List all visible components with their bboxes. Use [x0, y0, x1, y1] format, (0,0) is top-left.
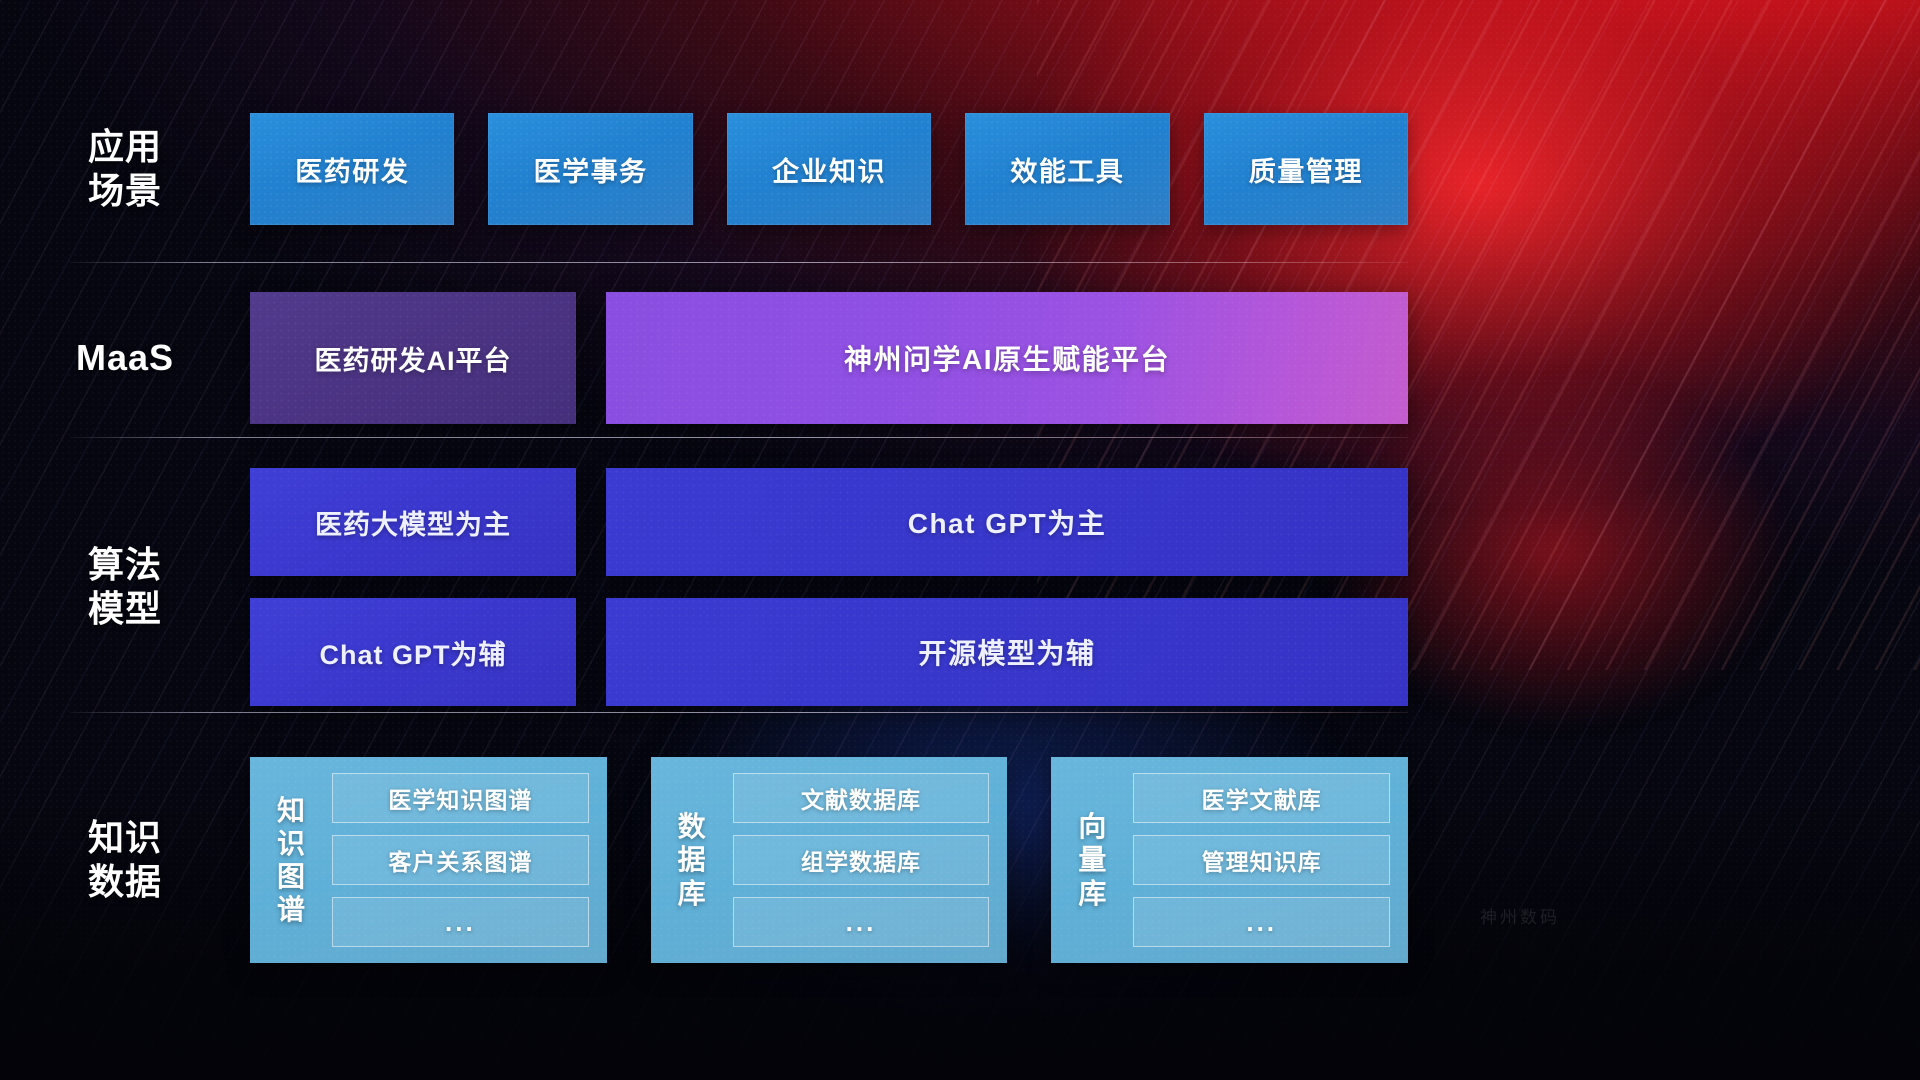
knowledge-item-more[interactable]: ... — [733, 897, 990, 947]
algo-card-label: 医药大模型为主 — [315, 503, 511, 542]
algo-card-chatgpt-primary[interactable]: Chat GPT为主 — [606, 468, 1408, 576]
knowledge-group-vertical-label: 知 识 图 谱 — [268, 773, 314, 947]
row-label-line-2: 模型 — [0, 587, 250, 631]
knowledge-item-label: 组学数据库 — [801, 843, 921, 877]
knowledge-item-literature-database[interactable]: 文献数据库 — [733, 773, 990, 823]
knowledge-group-vertical-label: 向 量 库 — [1069, 773, 1115, 947]
row-label-line-1: MaaS — [0, 336, 250, 380]
knowledge-item-label: 文献数据库 — [801, 781, 921, 815]
vertical-label-char: 据 — [678, 843, 706, 876]
vertical-label-char: 谱 — [277, 893, 305, 926]
app-card-drug-rd[interactable]: 医药研发 — [250, 113, 454, 225]
maas-card-label: 神州问学AI原生赋能平台 — [844, 338, 1170, 378]
knowledge-item-label: 医学知识图谱 — [388, 781, 532, 815]
app-card-label: 质量管理 — [1249, 150, 1363, 189]
knowledge-item-list: 文献数据库 组学数据库 ... — [733, 773, 990, 947]
knowledge-item-label: 客户关系图谱 — [388, 843, 532, 877]
row-application-scenarios: 应用 场景 医药研发 医学事务 企业知识 效能工具 — [0, 100, 1920, 238]
algo-card-pharma-llm-primary[interactable]: 医药大模型为主 — [250, 468, 576, 576]
app-card-label: 企业知识 — [772, 150, 886, 189]
vertical-label-char: 量 — [1078, 843, 1106, 876]
row-label-line-1: 应用 — [0, 125, 250, 169]
knowledge-item-list: 医学知识图谱 客户关系图谱 ... — [332, 773, 589, 947]
knowledge-item-more[interactable]: ... — [1133, 897, 1390, 947]
algorithm-row-secondary: Chat GPT为辅 开源模型为辅 — [250, 598, 1408, 706]
row-label-maas: MaaS — [0, 336, 250, 380]
algo-card-label: Chat GPT为辅 — [319, 633, 506, 672]
app-card-label: 医学事务 — [534, 150, 648, 189]
row-maas: MaaS 医药研发AI平台 神州问学AI原生赋能平台 — [0, 288, 1920, 428]
row-label-knowledge-data: 知识 数据 — [0, 816, 250, 904]
knowledge-group-vertical-label: 数 据 库 — [669, 773, 715, 947]
app-card-efficiency-tools[interactable]: 效能工具 — [965, 113, 1169, 225]
row-label-line-1: 知识 — [0, 816, 250, 860]
row-label-algorithm-models: 算法 模型 — [0, 543, 250, 631]
maas-card-label: 医药研发AI平台 — [315, 339, 512, 378]
knowledge-group-knowledge-graph[interactable]: 知 识 图 谱 医学知识图谱 客户关系图谱 — [250, 757, 607, 963]
knowledge-item-medical-knowledge-graph[interactable]: 医学知识图谱 — [332, 773, 589, 823]
knowledge-item-customer-relation-graph[interactable]: 客户关系图谱 — [332, 835, 589, 885]
divider-1 — [70, 262, 1408, 263]
knowledge-group-database[interactable]: 数 据 库 文献数据库 组学数据库 ... — [651, 757, 1008, 963]
vertical-label-char: 向 — [1078, 810, 1106, 843]
knowledge-item-medical-literature-store[interactable]: 医学文献库 — [1133, 773, 1390, 823]
vertical-label-char: 识 — [277, 827, 305, 860]
app-card-enterprise-knowledge[interactable]: 企业知识 — [727, 113, 931, 225]
knowledge-item-label: ... — [846, 907, 877, 938]
divider-3 — [70, 712, 1408, 713]
algorithm-row-primary: 医药大模型为主 Chat GPT为主 — [250, 468, 1408, 576]
row-body-algorithm-models: 医药大模型为主 Chat GPT为主 Chat GPT为辅 开源模型为辅 — [250, 468, 1920, 706]
maas-card-drug-rd-ai-platform[interactable]: 医药研发AI平台 — [250, 292, 576, 424]
vertical-label-char: 图 — [277, 860, 305, 893]
maas-card-shenzhou-wenxue-platform[interactable]: 神州问学AI原生赋能平台 — [606, 292, 1408, 424]
algo-card-opensource-secondary[interactable]: 开源模型为辅 — [606, 598, 1408, 706]
knowledge-item-label: ... — [445, 907, 476, 938]
knowledge-item-label: 管理知识库 — [1202, 843, 1322, 877]
knowledge-item-label: ... — [1246, 907, 1277, 938]
knowledge-item-label: 医学文献库 — [1202, 781, 1322, 815]
knowledge-item-management-knowledge-store[interactable]: 管理知识库 — [1133, 835, 1390, 885]
row-label-line-2: 数据 — [0, 860, 250, 904]
app-card-quality-management[interactable]: 质量管理 — [1204, 113, 1408, 225]
app-card-medical-affairs[interactable]: 医学事务 — [488, 113, 692, 225]
vertical-label-char: 库 — [1078, 877, 1106, 910]
row-body-knowledge-data: 知 识 图 谱 医学知识图谱 客户关系图谱 — [250, 757, 1920, 963]
knowledge-group-vector-store[interactable]: 向 量 库 医学文献库 管理知识库 ... — [1051, 757, 1408, 963]
slide-canvas: 应用 场景 医药研发 医学事务 企业知识 效能工具 — [0, 0, 1920, 1080]
row-knowledge-data: 知识 数据 知 识 图 谱 医学知识图谱 — [0, 736, 1920, 984]
row-label-application-scenarios: 应用 场景 — [0, 125, 250, 213]
divider-2 — [70, 437, 1408, 438]
vertical-label-char: 库 — [678, 877, 706, 910]
architecture-diagram: 应用 场景 医药研发 医学事务 企业知识 效能工具 — [0, 0, 1920, 1080]
vertical-label-char: 数 — [678, 810, 706, 843]
knowledge-item-omics-database[interactable]: 组学数据库 — [733, 835, 990, 885]
row-label-line-1: 算法 — [0, 543, 250, 587]
row-body-application-scenarios: 医药研发 医学事务 企业知识 效能工具 质量管理 — [250, 113, 1920, 225]
algorithm-model-grid: 医药大模型为主 Chat GPT为主 Chat GPT为辅 开源模型为辅 — [250, 468, 1408, 706]
algo-card-chatgpt-secondary[interactable]: Chat GPT为辅 — [250, 598, 576, 706]
row-body-maas: 医药研发AI平台 神州问学AI原生赋能平台 — [250, 292, 1920, 424]
vertical-label-char: 知 — [277, 794, 305, 827]
app-card-label: 效能工具 — [1010, 150, 1124, 189]
app-card-label: 医药研发 — [295, 150, 409, 189]
row-algorithm-models: 算法 模型 医药大模型为主 Chat GPT为主 Chat — [0, 462, 1920, 712]
algo-card-label: Chat GPT为主 — [908, 502, 1107, 542]
knowledge-item-more[interactable]: ... — [332, 897, 589, 947]
maas-platform-list: 医药研发AI平台 神州问学AI原生赋能平台 — [250, 292, 1408, 424]
knowledge-group-list: 知 识 图 谱 医学知识图谱 客户关系图谱 — [250, 757, 1408, 963]
application-card-list: 医药研发 医学事务 企业知识 效能工具 质量管理 — [250, 113, 1408, 225]
row-label-line-2: 场景 — [0, 169, 250, 213]
algo-card-label: 开源模型为辅 — [918, 632, 1095, 672]
knowledge-item-list: 医学文献库 管理知识库 ... — [1133, 773, 1390, 947]
